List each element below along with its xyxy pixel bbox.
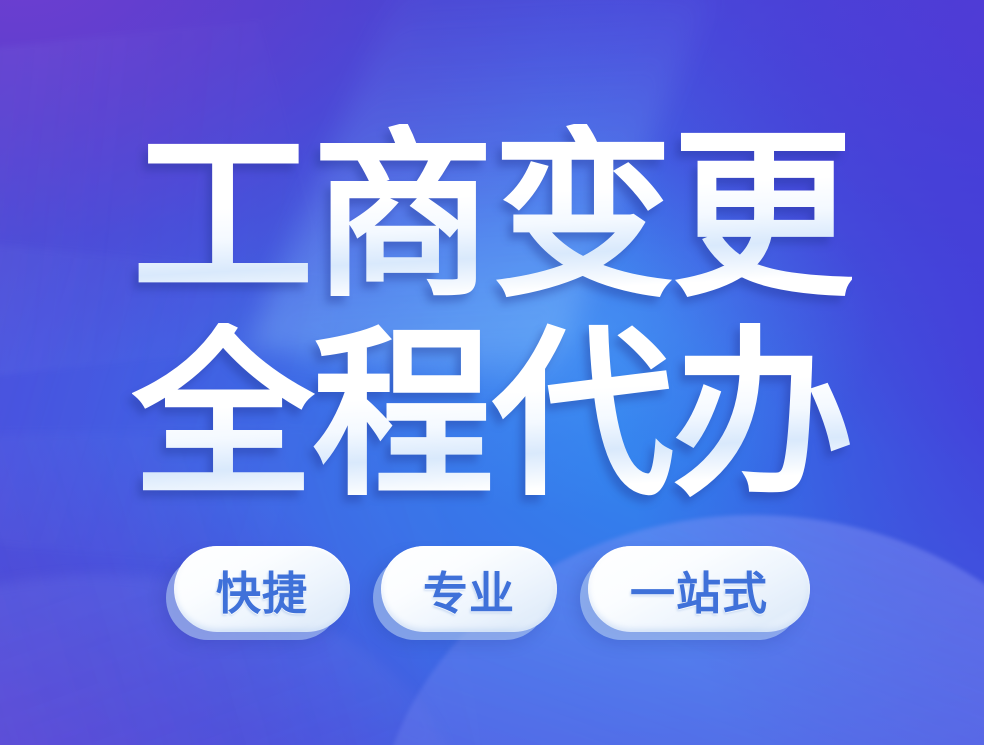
feature-tag-fast-label: 快捷 (216, 557, 308, 622)
feature-tag-professional-label: 专业 (423, 557, 515, 622)
headline-line-2: 全程代办 (132, 323, 852, 509)
promo-poster: 工商变更 全程代办 快捷 专业 一站式 (0, 0, 984, 745)
feature-tag-one-stop-label: 一站式 (630, 557, 768, 622)
feature-tag-fast[interactable]: 快捷 (174, 546, 350, 632)
headline-block: 工商变更 全程代办 (0, 124, 984, 508)
feature-tag-one-stop[interactable]: 一站式 (588, 546, 810, 632)
feature-tag-row: 快捷 专业 一站式 (0, 546, 984, 632)
feature-tag-professional[interactable]: 专业 (381, 546, 557, 632)
headline-line-1: 工商变更 (132, 124, 852, 310)
